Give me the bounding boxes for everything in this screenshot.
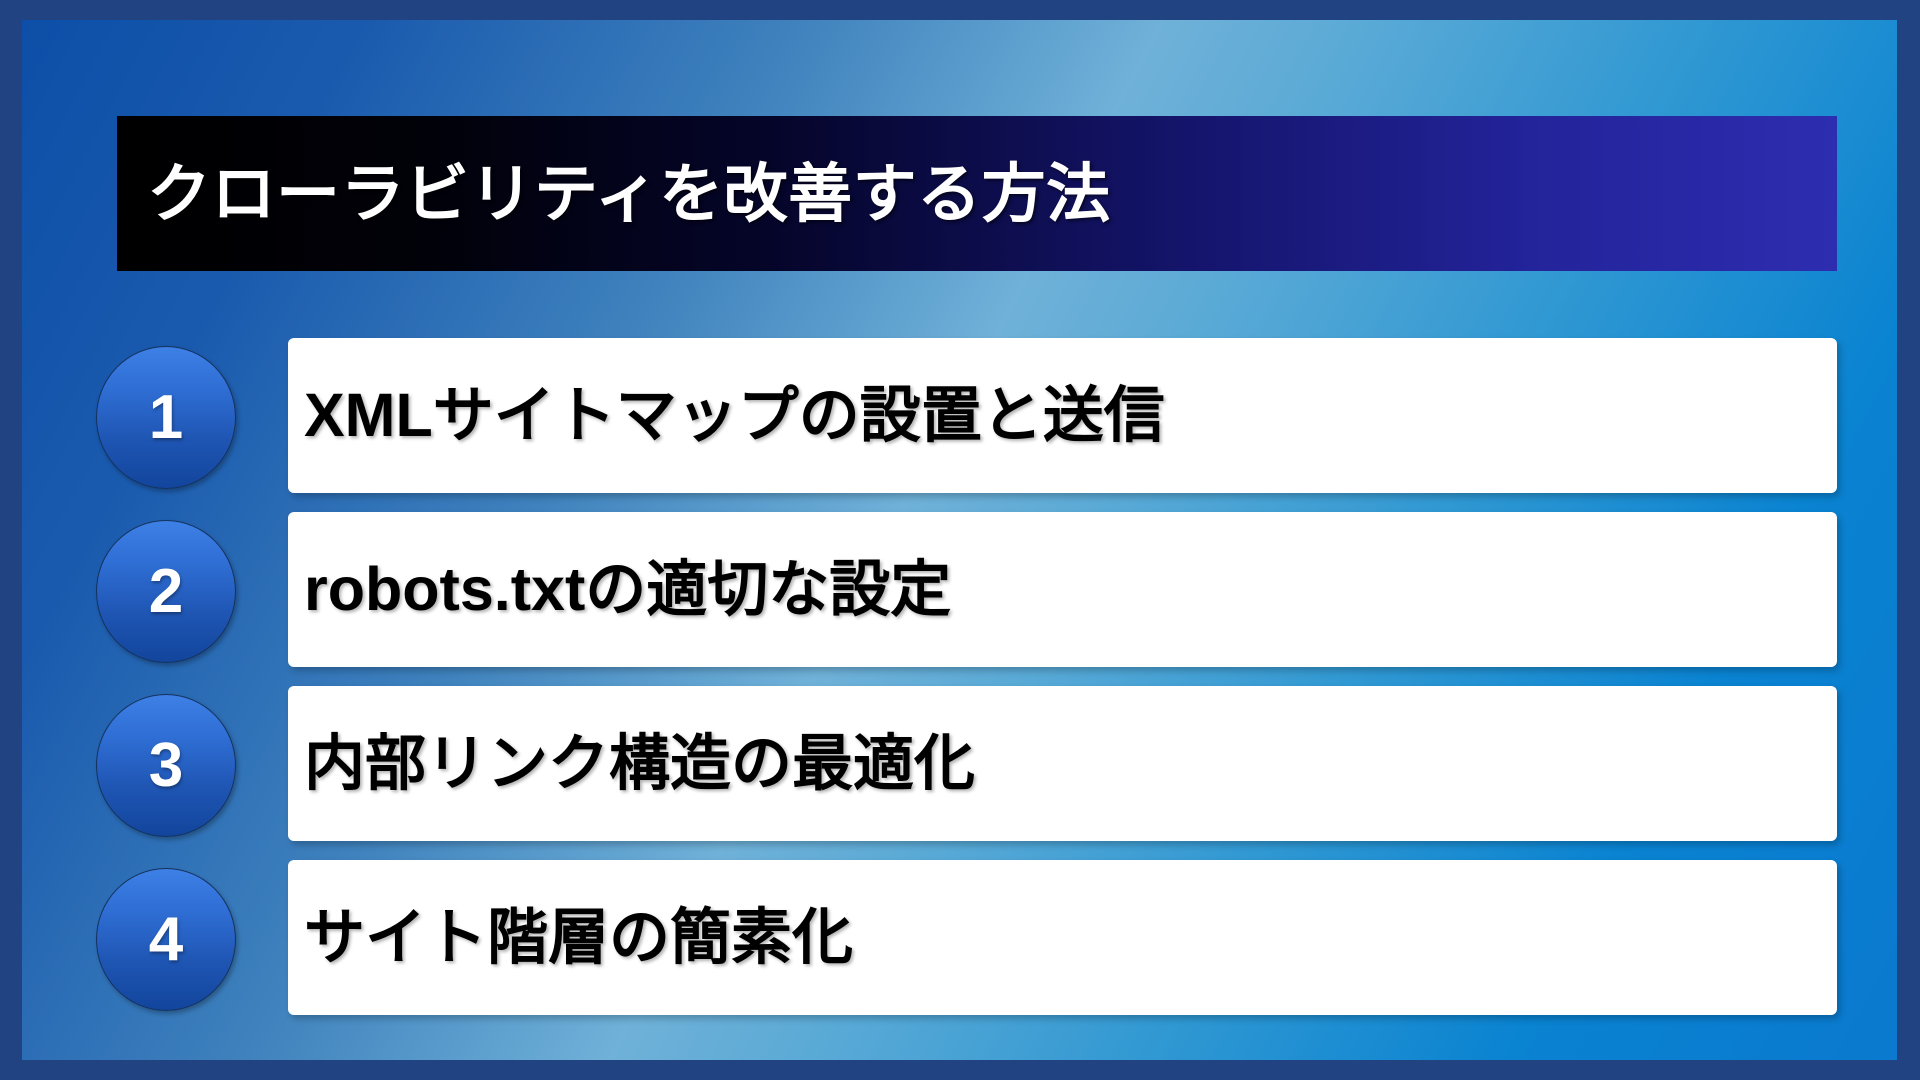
page-title: クローラビリティを改善する方法 <box>147 162 1111 226</box>
step-card[interactable]: robots.txtの適切な設定 <box>288 512 1837 667</box>
header-banner: クローラビリティを改善する方法 <box>117 116 1837 271</box>
list-item[interactable]: 3 内部リンク構造の最適化 <box>22 686 1920 841</box>
list-item[interactable]: 4 サイト階層の簡素化 <box>22 860 1920 1015</box>
list-item[interactable]: 2 robots.txtの適切な設定 <box>22 512 1920 667</box>
step-card[interactable]: XMLサイトマップの設置と送信 <box>288 338 1837 493</box>
step-number: 3 <box>149 735 183 797</box>
slide-panel: クローラビリティを改善する方法 1 XMLサイトマップの設置と送信 2 robo… <box>22 20 1897 1060</box>
step-label: XMLサイトマップの設置と送信 <box>304 383 1165 447</box>
step-badge: 1 <box>96 346 236 489</box>
step-number: 4 <box>149 909 183 971</box>
step-badge: 2 <box>96 520 236 663</box>
list-item[interactable]: 1 XMLサイトマップの設置と送信 <box>22 338 1920 493</box>
step-label: robots.txtの適切な設定 <box>304 557 951 621</box>
slide-canvas: クローラビリティを改善する方法 1 XMLサイトマップの設置と送信 2 robo… <box>0 0 1920 1080</box>
step-number: 1 <box>149 387 183 449</box>
step-card[interactable]: 内部リンク構造の最適化 <box>288 686 1837 841</box>
step-label: サイト階層の簡素化 <box>304 905 853 969</box>
step-number: 2 <box>149 561 183 623</box>
numbered-list: 1 XMLサイトマップの設置と送信 2 robots.txtの適切な設定 3 <box>22 338 1920 1034</box>
step-badge: 4 <box>96 868 236 1011</box>
step-badge: 3 <box>96 694 236 837</box>
step-card[interactable]: サイト階層の簡素化 <box>288 860 1837 1015</box>
step-label: 内部リンク構造の最適化 <box>304 731 975 795</box>
